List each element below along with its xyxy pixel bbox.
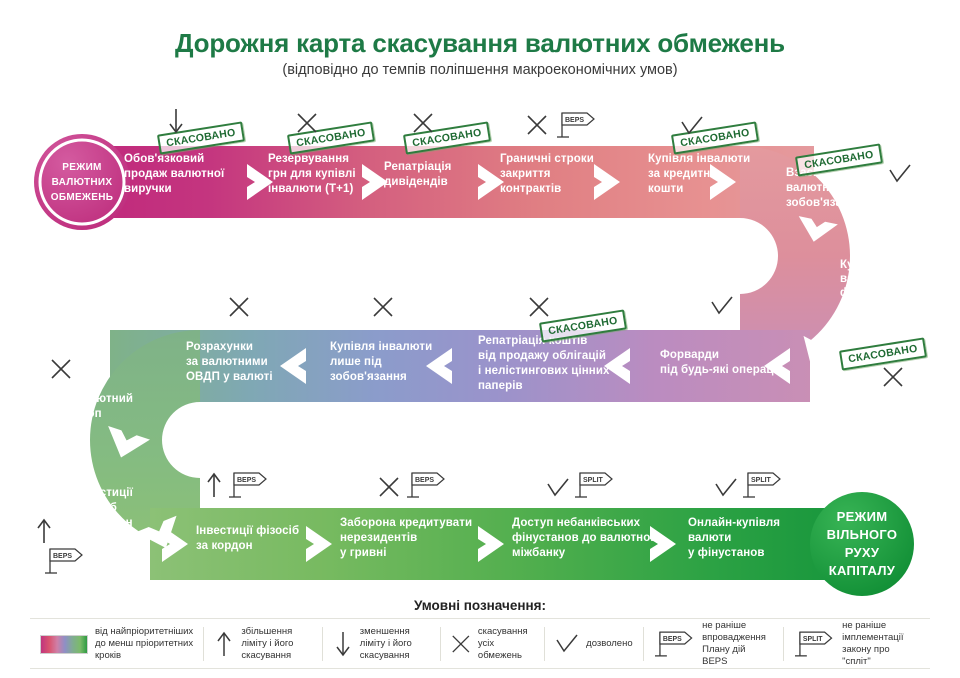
step-line: валюти (688, 531, 818, 546)
start-label-line-1: РЕЖИМ (32, 160, 132, 175)
step-line: кошти (648, 182, 768, 197)
step-line: зобов'язань (786, 196, 886, 211)
step-line: Інвестиції (76, 486, 176, 501)
legend-item-split: SPLIT не раніше імплементації закону про… (784, 622, 930, 666)
cross-icon-rightcurve (882, 366, 904, 388)
step-line: за кордон (76, 516, 176, 531)
legend-line: скасування (241, 650, 293, 662)
legend-line: усіх обмежень (478, 638, 534, 662)
legend-item-text: не раніше імплементації закону про "сплі… (842, 620, 920, 668)
legend-line: скасування (478, 626, 534, 638)
legend-item-text: не раніше впровадження Плану дій BEPS (702, 620, 773, 668)
step-row3-3[interactable]: Доступ небанківських фінустанов до валют… (512, 516, 672, 561)
step-line: ОВДП у валюті (186, 370, 306, 385)
up-arrow-icon (214, 630, 234, 658)
step-row1-1[interactable]: Обов'язковий продаж валютної виручки (124, 152, 244, 197)
svg-text:BEPS: BEPS (237, 477, 256, 484)
step-line: за кордон (196, 539, 336, 554)
step-line: Заборона кредитувати (340, 516, 490, 531)
step-line: у гривні (340, 546, 490, 561)
step-line: Валютний (74, 392, 164, 407)
start-node-label: РЕЖИМ ВАЛЮТНИХ ОБМЕЖЕНЬ (32, 160, 132, 205)
legend-line: дозволено (586, 638, 632, 650)
cross-icon-r2s2 (528, 296, 550, 318)
step-row2-5[interactable]: Валютний своп (74, 392, 164, 422)
cross-icon-r2s3 (372, 296, 394, 318)
step-line: в межах (840, 300, 930, 314)
step-line: валюти (840, 272, 930, 286)
check-icon-r3s4 (714, 478, 738, 498)
step-line: за валютними (186, 355, 306, 370)
step-line: Доступ небанківських (512, 516, 672, 531)
finish-label-line-4: КАПІТАЛУ (802, 562, 922, 580)
step-line: фізособами (840, 286, 930, 300)
step-row2-4[interactable]: Розрахунки за валютними ОВДП у валюті (186, 340, 306, 385)
step-row2-1[interactable]: Форварди під будь-які операції (660, 348, 800, 378)
legend-item-allowed: дозволено (545, 622, 642, 666)
beps-flag-icon-leftcurve: BEPS (44, 546, 86, 576)
legend-line: від найпріоритетніших (95, 626, 193, 638)
step-left-curve-1[interactable]: Інвестиції юросіб за кордон (76, 486, 176, 531)
up-arrow-icon-r3s1 (204, 472, 224, 498)
legend-line: зменшення (360, 626, 412, 638)
legend-line: не раніше (842, 620, 920, 632)
legend: від найпріоритетніших до менш пріоритетн… (30, 620, 930, 668)
step-line: нерезидентів (340, 531, 490, 546)
legend-line: ліміту і його (241, 638, 293, 650)
step-row3-4[interactable]: Онлайн-купівля валюти у фінустанов (688, 516, 818, 561)
split-flag-label: SPLIT (803, 636, 823, 643)
step-line: Граничні строки (500, 152, 620, 167)
beps-flag-label: BEPS (662, 636, 681, 643)
legend-line: Плану дій BEPS (702, 644, 773, 668)
step-line: дивідендів (384, 175, 494, 190)
step-line: виручки (124, 182, 244, 197)
up-arrow-icon-leftcurve (34, 518, 54, 544)
step-line: Купівля інвалюти (648, 152, 768, 167)
step-row2-3[interactable]: Купівля інвалюти лише під зобов'язання (330, 340, 450, 385)
legend-divider-top (30, 618, 930, 619)
svg-text:BEPS: BEPS (53, 553, 72, 560)
step-line: закриття (500, 167, 620, 182)
step-line: Форварди (660, 348, 800, 363)
legend-item-priority: від найпріоритетніших до менш пріоритетн… (30, 622, 203, 666)
down-arrow-icon-r1s1 (166, 108, 186, 134)
svg-text:SPLIT: SPLIT (583, 477, 604, 484)
step-row1-4[interactable]: Граничні строки закриття контрактів (500, 152, 620, 197)
check-icon-r2s1 (710, 296, 734, 316)
start-label-line-3: ОБМЕЖЕНЬ (32, 190, 132, 205)
step-line: у фінустанов (688, 546, 818, 561)
step-row1-2[interactable]: Резервування грн для купівлі інвалюти (Т… (268, 152, 388, 197)
beps-flag-icon: BEPS (654, 629, 696, 659)
check-icon-r1s6 (888, 164, 912, 184)
step-line: 150 тис. (840, 314, 930, 328)
step-row3-2[interactable]: Заборона кредитувати нерезидентів у грив… (340, 516, 490, 561)
step-line: грн для купівлі (268, 167, 388, 182)
step-line: валютних (786, 181, 886, 196)
check-icon-r1s5 (680, 116, 704, 136)
legend-item-text: дозволено (586, 638, 632, 650)
start-label-line-2: ВАЛЮТНИХ (32, 175, 132, 190)
step-line: зобов'язання (330, 370, 450, 385)
step-line: міжбанку (512, 546, 672, 561)
step-line: Купівля (840, 258, 930, 272)
legend-item-beps: BEPS не раніше впровадження Плану дій BE… (644, 622, 783, 666)
step-row1-3[interactable]: Репатріація дивідендів (384, 160, 494, 190)
gradient-swatch-icon (40, 635, 88, 654)
step-line: за кредитні (648, 167, 768, 182)
step-line: Розрахунки (186, 340, 306, 355)
legend-line: впровадження (702, 632, 773, 644)
legend-item-text: скасування усіх обмежень (478, 626, 534, 662)
legend-line: до менш пріоритетних (95, 638, 193, 650)
step-line: Резервування (268, 152, 388, 167)
step-row2-2[interactable]: Репатріація коштів від продажу облігацій… (478, 334, 628, 394)
cross-icon-r1s3 (412, 112, 434, 134)
svg-text:BEPS: BEPS (565, 117, 584, 124)
check-icon-r3s3 (546, 478, 570, 498)
step-line: під будь-які операції (660, 363, 800, 378)
step-line: продаж валютної (124, 167, 244, 182)
step-line: юросіб (76, 501, 176, 516)
step-line: Онлайн-купівля (688, 516, 818, 531)
finish-label-line-2: ВІЛЬНОГО (802, 526, 922, 544)
svg-text:SPLIT: SPLIT (751, 477, 772, 484)
split-flag-icon-r3s3: SPLIT (574, 470, 616, 500)
step-row3-1[interactable]: Інвестиції фізосіб за кордон (196, 524, 336, 554)
split-flag-icon-r3s4: SPLIT (742, 470, 784, 500)
legend-item-text: зменшення ліміту і його скасування (360, 626, 412, 662)
legend-item-decrease: зменшення ліміту і його скасування (323, 622, 441, 666)
cross-icon (451, 633, 471, 655)
step-right-curve-1[interactable]: Купівля валюти фізособами в межах 150 ти… (840, 258, 930, 342)
legend-item-text: від найпріоритетніших до менш пріоритетн… (95, 626, 193, 662)
cross-icon-r2s4 (228, 296, 250, 318)
check-icon (555, 634, 579, 654)
cross-icon-r1s4 (526, 114, 548, 136)
finish-label-line-3: РУХУ (802, 544, 922, 562)
step-line: лише під (330, 355, 450, 370)
step-line: контрактів (500, 182, 620, 197)
step-line: паперів (478, 379, 628, 394)
step-line: від продажу облігацій (478, 349, 628, 364)
step-line: Репатріація (384, 160, 494, 175)
step-line: і нелістингових цінних (478, 364, 628, 379)
cross-icon-r3s2 (378, 476, 400, 498)
split-flag-icon: SPLIT (794, 629, 836, 659)
legend-line: не раніше (702, 620, 773, 632)
legend-title: Умовні позначення: (0, 598, 960, 613)
cross-icon-r2s5 (50, 358, 72, 380)
legend-line: скасування (360, 650, 412, 662)
cross-icon-r1s2 (296, 112, 318, 134)
step-line: своп (74, 407, 164, 422)
step-line: Інвестиції фізосіб (196, 524, 336, 539)
legend-divider-bottom (30, 668, 930, 669)
step-row1-5[interactable]: Купівля інвалюти за кредитні кошти (648, 152, 768, 197)
beps-flag-icon-r3s1: BEPS (228, 470, 270, 500)
legend-line: закону про "спліт" (842, 644, 920, 668)
legend-line: ліміту і його (360, 638, 412, 650)
finish-label-line-1: РЕЖИМ (802, 508, 922, 526)
step-line: Купівля інвалюти (330, 340, 450, 355)
legend-item-increase: збільшення ліміту і його скасування (204, 622, 322, 666)
step-line: інвалюти (Т+1) (268, 182, 388, 197)
legend-item-text: збільшення ліміту і його скасування (241, 626, 293, 662)
beps-flag-icon-r3s2: BEPS (406, 470, 448, 500)
legend-item-cancel-all: скасування усіх обмежень (441, 622, 544, 666)
step-line: Обов'язковий (124, 152, 244, 167)
step-line: фінустанов до валютного (512, 531, 672, 546)
down-arrow-icon (333, 630, 353, 658)
legend-line: кроків (95, 650, 193, 662)
legend-line: збільшення (241, 626, 293, 638)
svg-text:BEPS: BEPS (415, 477, 434, 484)
legend-line: імплементації (842, 632, 920, 644)
beps-flag-icon-r1s4: BEPS (556, 110, 598, 140)
finish-node-label: РЕЖИМ ВІЛЬНОГО РУХУ КАПІТАЛУ (802, 508, 922, 580)
